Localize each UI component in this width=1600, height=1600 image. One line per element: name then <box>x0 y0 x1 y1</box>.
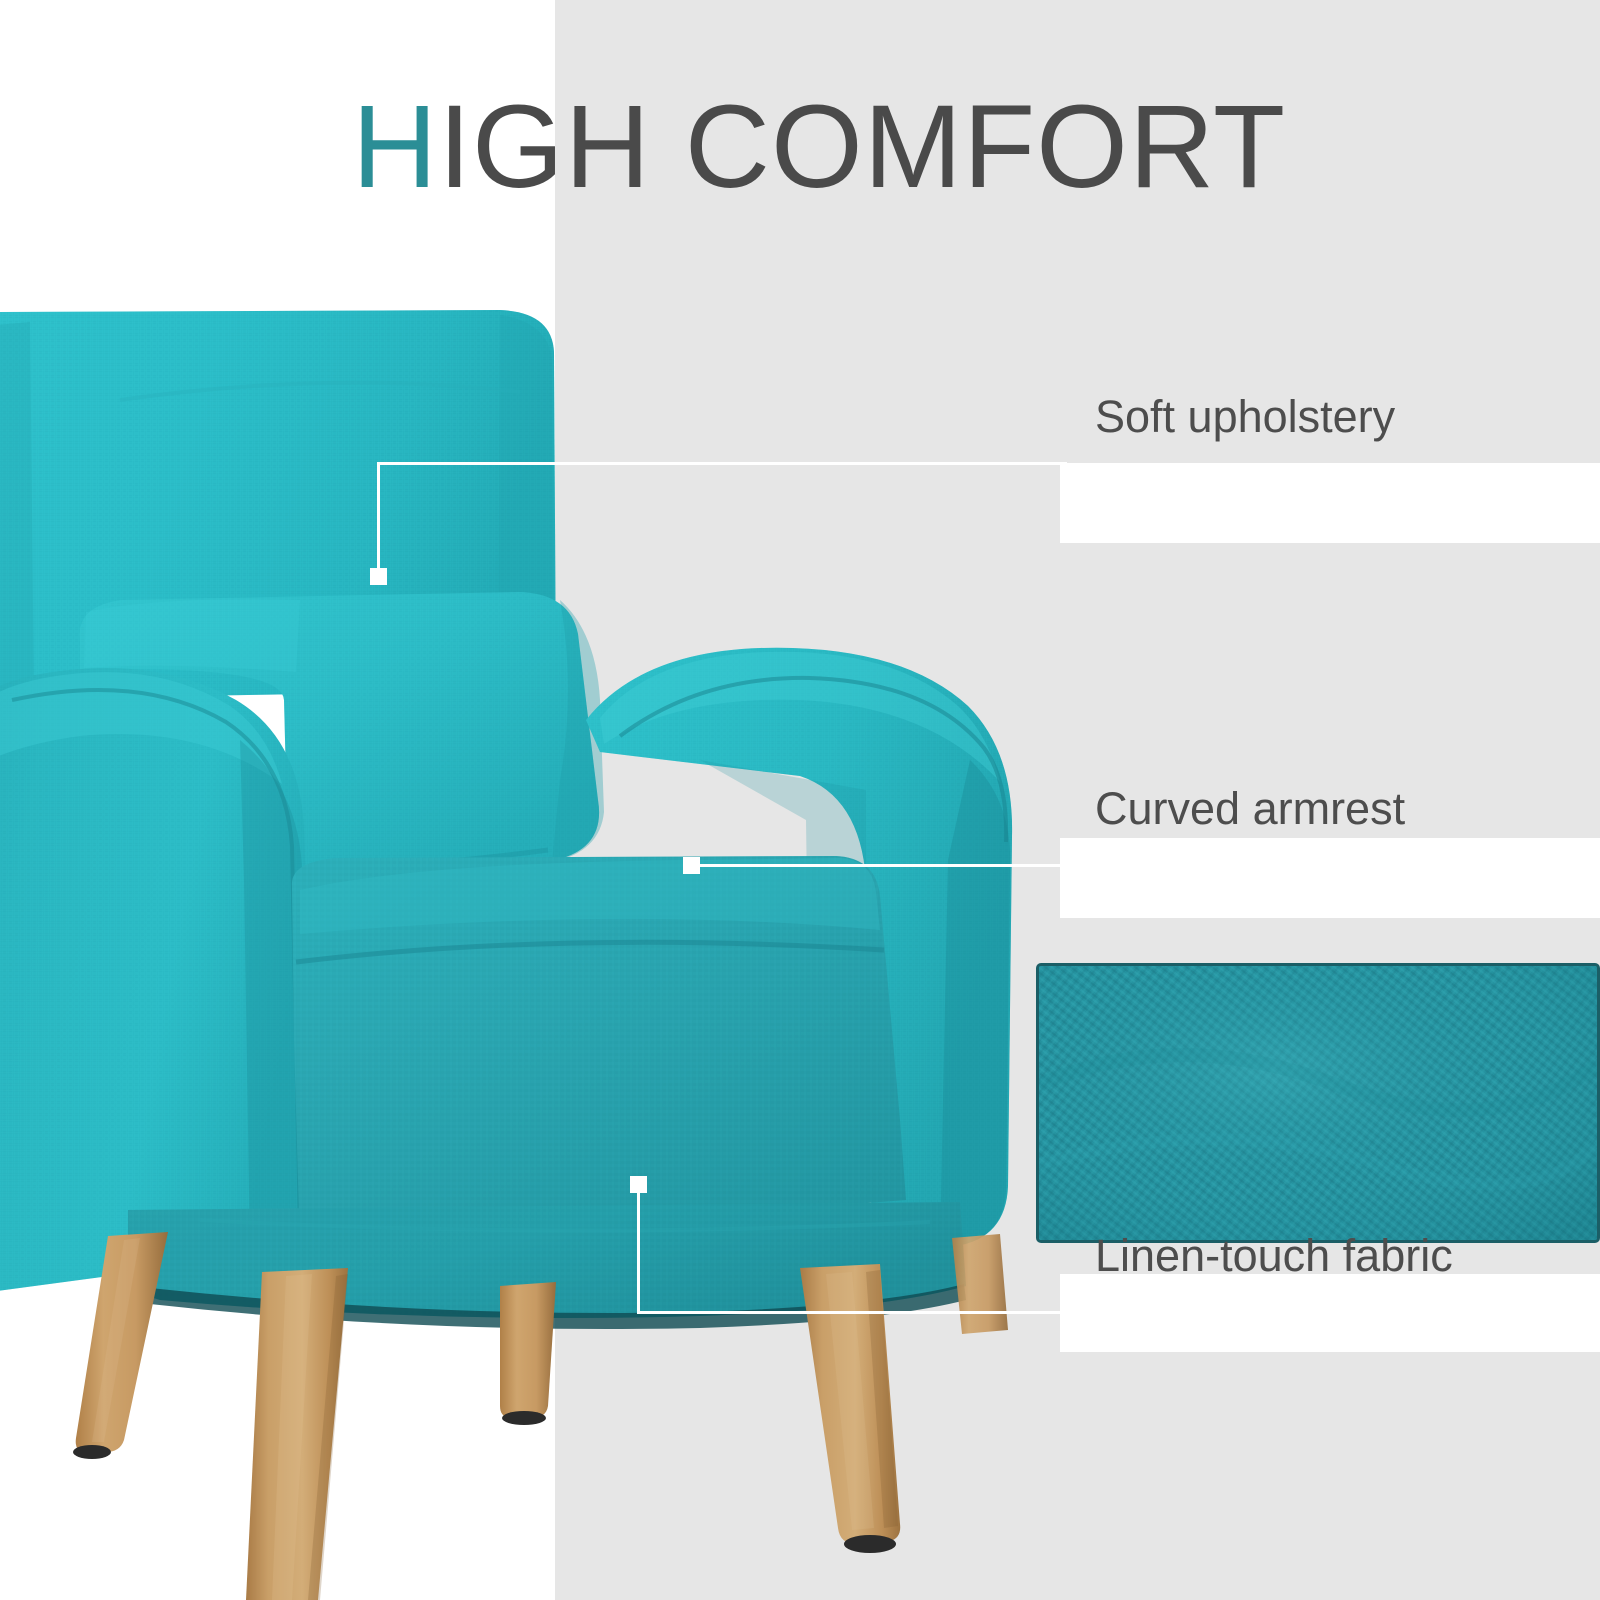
callout-marker-soft-upholstery <box>370 568 387 585</box>
page-title: HIGH COMFORT <box>352 88 1286 206</box>
callout-label-soft-upholstery: Soft upholstery <box>1095 394 1395 439</box>
callout-marker-curved-armrest <box>683 857 700 874</box>
callout-band-soft-upholstery <box>1060 463 1600 543</box>
callout-marker-linen-touch-fabric <box>630 1176 647 1193</box>
leader-line-soft-upholstery-vertical <box>377 462 380 575</box>
callout-band-curved-armrest <box>1060 838 1600 918</box>
leader-line-soft-upholstery-horizontal <box>377 462 1067 465</box>
left-armrest <box>0 668 318 1300</box>
seat-cushion <box>292 856 906 1248</box>
leader-line-curved-armrest-horizontal <box>690 864 1070 867</box>
callout-label-curved-armrest: Curved armrest <box>1095 786 1405 831</box>
page-title-rest: IGH COMFORT <box>438 81 1286 213</box>
page-title-accent-letter: H <box>352 81 438 213</box>
callout-label-linen-touch-fabric: Linen-touch fabric <box>1095 1233 1453 1278</box>
callout-band-linen-touch-fabric <box>1060 1274 1600 1352</box>
fabric-swatch <box>1036 963 1600 1243</box>
fabric-swatch-texture <box>1039 966 1597 1243</box>
leader-line-linen-touch-horizontal <box>637 1311 1067 1314</box>
infographic-canvas: Soft upholstery Curved armrest <box>0 0 1600 1600</box>
leader-line-linen-touch-vertical <box>637 1190 640 1314</box>
